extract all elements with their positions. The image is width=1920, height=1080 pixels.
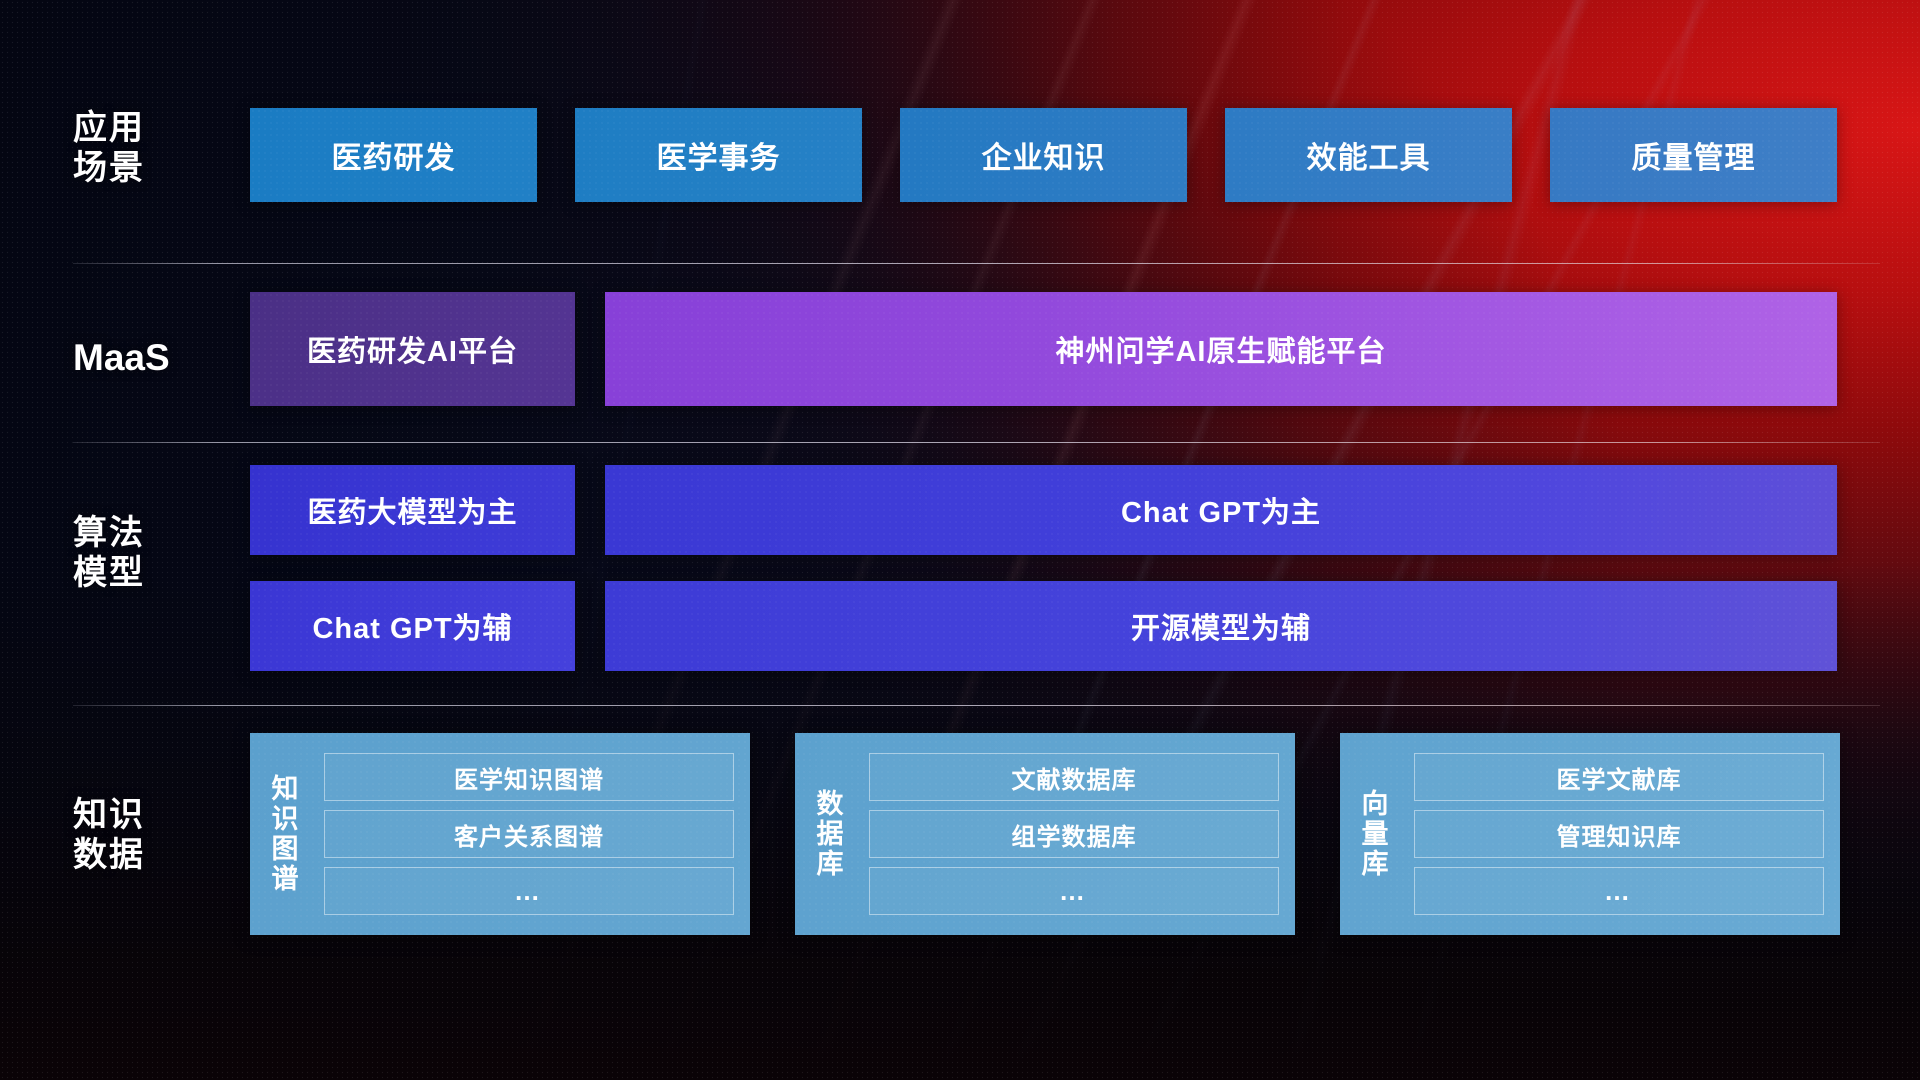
knowledge-item-more[interactable]: … xyxy=(324,867,734,915)
row-label-line: 模型 xyxy=(73,553,233,593)
maas-card-shenzhou-platform[interactable]: 神州问学AI原生赋能平台 xyxy=(605,292,1837,406)
row-label-application-scenario: 应用 场景 xyxy=(73,108,233,188)
app-card-efficiency-tools[interactable]: 效能工具 xyxy=(1225,108,1512,202)
row-label-line: 数据 xyxy=(73,835,233,875)
row-label-line: MaaS xyxy=(73,336,233,380)
vertical-char: 库 xyxy=(1362,849,1389,879)
slide-canvas: 应用 场景 医药研发 医学事务 企业知识 效能工具 质量管理 MaaS xyxy=(0,0,1920,1080)
vertical-char: 谱 xyxy=(272,864,299,894)
row-label-line: 算法 xyxy=(73,513,233,553)
knowledge-item[interactable]: 管理知识库 xyxy=(1414,810,1824,858)
vertical-char: 知 xyxy=(272,774,299,804)
algo-card-chatgpt-primary[interactable]: Chat GPT为主 xyxy=(605,465,1837,555)
row-label-line: 场景 xyxy=(73,148,233,188)
knowledge-item[interactable]: 组学数据库 xyxy=(869,810,1279,858)
vertical-char: 据 xyxy=(817,819,844,849)
knowledge-item[interactable]: 医学知识图谱 xyxy=(324,753,734,801)
vertical-char: 识 xyxy=(272,804,299,834)
knowledge-item[interactable]: 文献数据库 xyxy=(869,753,1279,801)
app-card-label: 效能工具 xyxy=(1307,133,1431,177)
app-card-label: 企业知识 xyxy=(982,133,1106,177)
app-card-quality-management[interactable]: 质量管理 xyxy=(1550,108,1837,202)
app-card-label: 医药研发 xyxy=(332,133,456,177)
knowledge-item-more[interactable]: … xyxy=(1414,867,1824,915)
knowledge-group-vertical-label: 向 量 库 xyxy=(1340,733,1410,935)
algo-card-label: 开源模型为辅 xyxy=(1131,605,1311,647)
maas-card-medicine-ai-platform[interactable]: 医药研发AI平台 xyxy=(250,292,575,406)
app-card-medical-affairs[interactable]: 医学事务 xyxy=(575,108,862,202)
row-label-line: 知识 xyxy=(73,795,233,835)
knowledge-group-items: 医学知识图谱 客户关系图谱 … xyxy=(320,733,750,935)
maas-card-label: 神州问学AI原生赋能平台 xyxy=(1055,328,1386,370)
row-label-algorithm-model: 算法 模型 xyxy=(73,513,233,593)
vertical-char: 向 xyxy=(1362,789,1389,819)
row-label-maas: MaaS xyxy=(73,336,233,380)
app-card-label: 质量管理 xyxy=(1632,133,1756,177)
row-label-knowledge-data: 知识 数据 xyxy=(73,795,233,875)
vertical-char: 数 xyxy=(817,789,844,819)
app-card-label: 医学事务 xyxy=(657,133,781,177)
algo-card-medicine-llm-primary[interactable]: 医药大模型为主 xyxy=(250,465,575,555)
vertical-char: 库 xyxy=(817,849,844,879)
algo-card-label: 医药大模型为主 xyxy=(307,489,517,531)
vertical-char: 图 xyxy=(272,834,299,864)
algo-card-chatgpt-secondary[interactable]: Chat GPT为辅 xyxy=(250,581,575,671)
knowledge-group-graph[interactable]: 知 识 图 谱 医学知识图谱 客户关系图谱 … xyxy=(250,733,750,935)
knowledge-item-more[interactable]: … xyxy=(869,867,1279,915)
knowledge-item[interactable]: 医学文献库 xyxy=(1414,753,1824,801)
algo-card-opensource-secondary[interactable]: 开源模型为辅 xyxy=(605,581,1837,671)
app-card-enterprise-knowledge[interactable]: 企业知识 xyxy=(900,108,1187,202)
architecture-diagram: 应用 场景 医药研发 医学事务 企业知识 效能工具 质量管理 MaaS xyxy=(0,0,1920,1080)
knowledge-group-vertical-label: 知 识 图 谱 xyxy=(250,733,320,935)
vertical-char: 量 xyxy=(1362,819,1389,849)
app-card-medicine-rd[interactable]: 医药研发 xyxy=(250,108,537,202)
knowledge-group-vertical-label: 数 据 库 xyxy=(795,733,865,935)
knowledge-group-items: 文献数据库 组学数据库 … xyxy=(865,733,1295,935)
knowledge-group-database[interactable]: 数 据 库 文献数据库 组学数据库 … xyxy=(795,733,1295,935)
knowledge-group-vector[interactable]: 向 量 库 医学文献库 管理知识库 … xyxy=(1340,733,1840,935)
divider-after-algorithm xyxy=(73,705,1880,706)
algo-card-label: Chat GPT为主 xyxy=(1121,489,1321,531)
knowledge-item[interactable]: 客户关系图谱 xyxy=(324,810,734,858)
knowledge-group-items: 医学文献库 管理知识库 … xyxy=(1410,733,1840,935)
row-label-line: 应用 xyxy=(73,108,233,148)
divider-after-application xyxy=(73,263,1880,264)
algo-card-label: Chat GPT为辅 xyxy=(312,605,512,647)
divider-after-maas xyxy=(73,442,1880,443)
maas-card-label: 医药研发AI平台 xyxy=(307,328,518,370)
